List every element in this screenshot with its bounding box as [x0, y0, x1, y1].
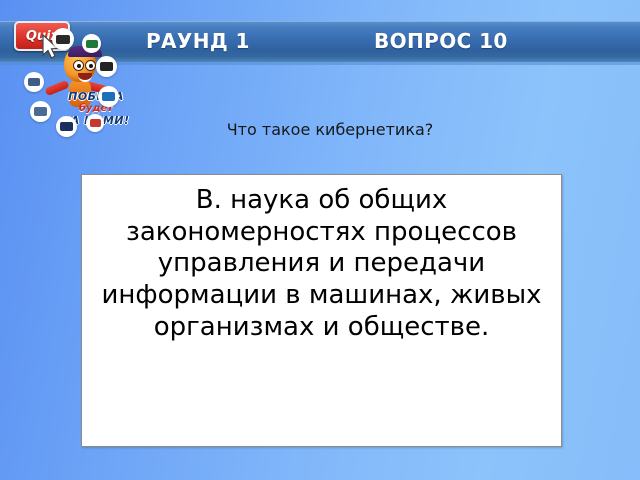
round-label: РАУНД 1 [146, 29, 250, 53]
laptop-open-icon [24, 72, 44, 92]
monitor-icon [30, 101, 51, 122]
slogan-line-1: ПОБЕДА [40, 90, 152, 103]
smartphone-icon [86, 114, 104, 132]
answer-text: В. наука об общих закономерностях процес… [82, 175, 561, 344]
game-console-icon-glyph [100, 62, 113, 71]
answer-box[interactable]: В. наука об общих закономерностях процес… [81, 174, 562, 447]
netbook-icon [56, 116, 77, 137]
laptop-closed-icon [52, 28, 74, 50]
netbook-icon-glyph [60, 122, 73, 131]
mascot-eye-right [85, 60, 96, 71]
smartphone-icon-glyph [90, 119, 101, 127]
slogan-line-2: будет [40, 103, 152, 114]
mascot-mouth [78, 73, 92, 82]
question-prompt: Что такое кибернетика? [120, 120, 540, 139]
laptop-closed-icon-glyph [56, 35, 70, 44]
mascot-eye-left [73, 60, 84, 71]
game-console-icon [96, 56, 117, 77]
laptop-open-icon-glyph [28, 78, 40, 86]
tablet-tiles-icon [98, 86, 119, 107]
monitor-icon-glyph [34, 107, 47, 116]
question-number-label: ВОПРОС 10 [374, 29, 508, 53]
tablet-tiles-icon-glyph [102, 92, 115, 101]
circuit-board-icon [82, 34, 101, 53]
circuit-board-icon-glyph [86, 40, 98, 48]
quiz-slide: РАУНД 1 ВОПРОС 10 Quiz ПОБЕДА будет ЗА Н… [0, 0, 640, 480]
